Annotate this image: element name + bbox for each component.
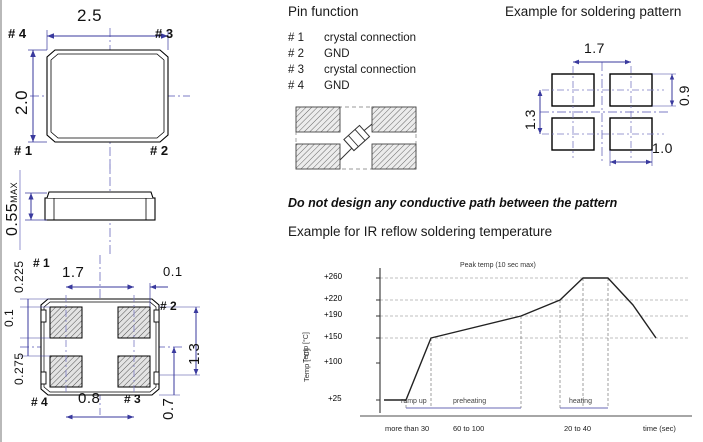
top-view-drawing	[0, 0, 230, 165]
bottom-view-left-mid-dim: 0.1	[2, 309, 16, 327]
dim-arrow-r-outer-bottom	[194, 369, 199, 375]
pin-connection-drawing	[292, 104, 420, 172]
sp-arrow-bottom-left	[610, 160, 616, 165]
pad-top-left	[296, 107, 340, 132]
reflow-chart-svg: Temp [°C]	[288, 258, 703, 442]
soldering-pattern-title: Example for soldering pattern	[505, 4, 681, 19]
pin-function-name: GND	[324, 80, 350, 92]
pin-function-row: # 4 GND	[288, 80, 416, 92]
bottom-view-pin-2-label: # 2	[160, 299, 177, 313]
conductive-path-warning: Do not design any conductive path betwee…	[288, 196, 617, 210]
reflow-chart: Temp [°C] +260 +220 +190 +150 +100 +25 T…	[288, 258, 703, 442]
ytick-label-25: +25	[328, 394, 342, 403]
soldering-pattern-block: Example for soldering pattern	[505, 4, 681, 19]
sp-top-dim: 1.7	[584, 40, 605, 56]
y-axis-title-label: Temp [°C]	[302, 349, 311, 382]
pin-function-row: # 1 crystal connection	[288, 32, 416, 44]
side-view: 0.55MAX	[0, 160, 230, 255]
bottom-view-bottom-dim: 0.8	[78, 390, 100, 407]
thickness-value: 0.55	[4, 203, 21, 236]
bottom-view-drawing	[0, 255, 245, 442]
bottom-view-left-top-dim: 0.225	[12, 260, 26, 293]
side-view-thickness-dim: 0.55MAX	[4, 182, 22, 236]
castellation-br	[154, 372, 159, 384]
ytick-label-100: +100	[324, 357, 342, 366]
ytick-label-220: +220	[324, 294, 342, 303]
sp-arrow-left-top	[538, 90, 543, 96]
dim-arrow-pitch-right	[128, 284, 135, 289]
sp-arrow-left-bottom	[538, 128, 543, 134]
bottom-view-left-bot-dim: 0.275	[12, 352, 26, 385]
pin-function-list: # 1 crystal connection # 2 GND # 3 cryst…	[288, 32, 416, 92]
dim-arrow-thickness-top	[28, 193, 33, 200]
ytick-label-260: +260	[324, 272, 342, 281]
sp-left-dim: 1.3	[522, 109, 538, 130]
castellation-bl	[41, 372, 46, 384]
pin-number: # 4	[288, 80, 324, 92]
bottom-view-right-inner-dim: 0.7	[160, 398, 177, 420]
dim-arrow-thickness-bottom	[28, 214, 33, 221]
dim-arrow-edge-left	[150, 285, 156, 290]
pin-function-title: Pin function	[288, 4, 416, 19]
package-outline-outer	[47, 50, 168, 142]
package-body	[45, 198, 155, 220]
dim-arrow-left	[47, 33, 54, 39]
castellation-tl	[41, 310, 46, 322]
bottom-view-right-outer-dim: 1.3	[186, 343, 203, 365]
bottom-view-pitch-dim: 1.7	[62, 264, 84, 281]
soldering-pattern-drawing-wrap: 1.7 1.3 0.9 1.0	[500, 26, 703, 171]
sp-arrow-right-top	[670, 74, 674, 80]
top-view-pin-4-label: # 4	[8, 26, 26, 41]
pin-function-name: crystal connection	[324, 64, 416, 76]
pin-function-row: # 3 crystal connection	[288, 64, 416, 76]
phase-label-ramp-up: ramp up	[401, 398, 427, 405]
castellation-tr	[154, 310, 159, 322]
bottom-view-pin-1-label: # 1	[33, 256, 50, 270]
datasheet-drawing-page: 2.5 2.0 # 4 # 3 # 1 # 2 0.55MAX	[0, 0, 703, 442]
bottom-view: 1.7 0.1 0.225 0.1 0.275 1.3 0.7 0.8 # 1 …	[0, 255, 245, 442]
sp-arrow-top-left	[573, 60, 579, 65]
dim-arrow-pitch-left	[66, 284, 73, 289]
phase-duration-heating: 20 to 40	[564, 424, 591, 433]
dim-arrow-bottom-left	[66, 415, 73, 420]
pin-function-block: Pin function # 1 crystal connection # 2 …	[288, 4, 416, 92]
bottom-view-edge-dim: 0.1	[163, 264, 183, 279]
peak-temp-annotation: Peak temp (10 sec max)	[460, 262, 536, 269]
phase-label-heating: heating	[569, 398, 592, 405]
top-view-pin-1-label: # 1	[14, 143, 32, 158]
dim-arrow-top	[30, 50, 36, 57]
ytick-label-190: +190	[324, 310, 342, 319]
pad-bottom-left	[296, 144, 340, 169]
bottom-view-pin-3-label: # 3	[124, 392, 141, 406]
ytick-label-150: +150	[324, 332, 342, 341]
sp-bottom-dim: 1.0	[652, 140, 673, 156]
dim-arrow-bottom	[30, 135, 36, 142]
sp-arrow-right-bottom	[670, 101, 674, 107]
pad-bottom-right	[372, 144, 416, 169]
pin-connection-diagram	[292, 104, 420, 172]
top-view: 2.5 2.0 # 4 # 3 # 1 # 2	[0, 0, 230, 165]
sp-arrow-top-right	[625, 60, 631, 65]
pin-number: # 3	[288, 64, 324, 76]
pin-number: # 1	[288, 32, 324, 44]
x-axis-title: time (sec)	[643, 424, 676, 433]
reflow-profile-line	[384, 278, 656, 400]
dim-arrow-r-inner-top	[172, 347, 177, 353]
pad-top-right	[372, 107, 416, 132]
top-view-pin-3-label: # 3	[155, 26, 173, 41]
pin-function-name: GND	[324, 48, 350, 60]
top-view-width-dim: 2.5	[77, 6, 102, 26]
sp-arrow-bottom-right	[646, 160, 652, 165]
pin-function-name: crystal connection	[324, 32, 416, 44]
top-view-pin-2-label: # 2	[150, 143, 168, 158]
side-view-drawing	[0, 160, 230, 255]
thickness-suffix: MAX	[9, 182, 19, 203]
phase-duration-preheating: 60 to 100	[453, 424, 484, 433]
pin-number: # 2	[288, 48, 324, 60]
bottom-view-pin-4-label: # 4	[31, 395, 48, 409]
pin-function-row: # 2 GND	[288, 48, 416, 60]
phase-label-preheating: preheating	[453, 398, 486, 405]
dim-arrow-r-outer-top	[194, 307, 199, 313]
dim-arrow-bottom-right	[128, 415, 135, 420]
phase-duration-ramp-up: more than 30	[385, 424, 429, 433]
sp-right-dim: 0.9	[676, 85, 692, 106]
reflow-section-title: Example for IR reflow soldering temperat…	[288, 224, 552, 239]
package-lid	[47, 192, 153, 198]
top-view-height-dim: 2.0	[12, 90, 32, 115]
